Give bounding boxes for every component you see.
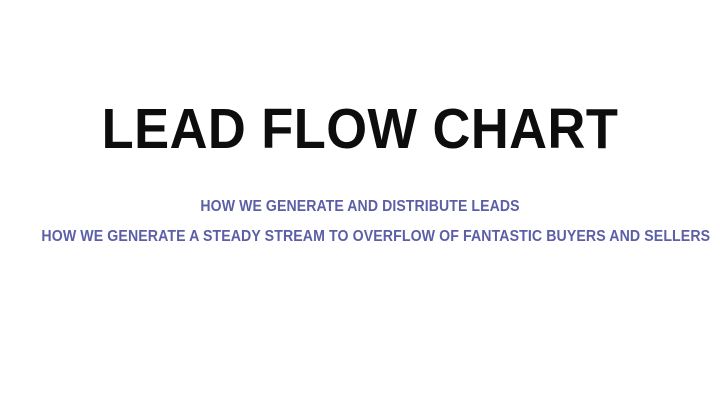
page-title: LEAD FLOW CHART	[29, 98, 691, 160]
subtitle-line-1: HOW WE GENERATE AND DISTRIBUTE LEADS	[43, 198, 677, 216]
slide-canvas: LEAD FLOW CHART HOW WE GENERATE AND DIST…	[0, 0, 720, 404]
subtitle-line-2: HOW WE GENERATE A STEADY STREAM TO OVERF…	[41, 228, 678, 246]
empty-content-area	[0, 255, 720, 404]
